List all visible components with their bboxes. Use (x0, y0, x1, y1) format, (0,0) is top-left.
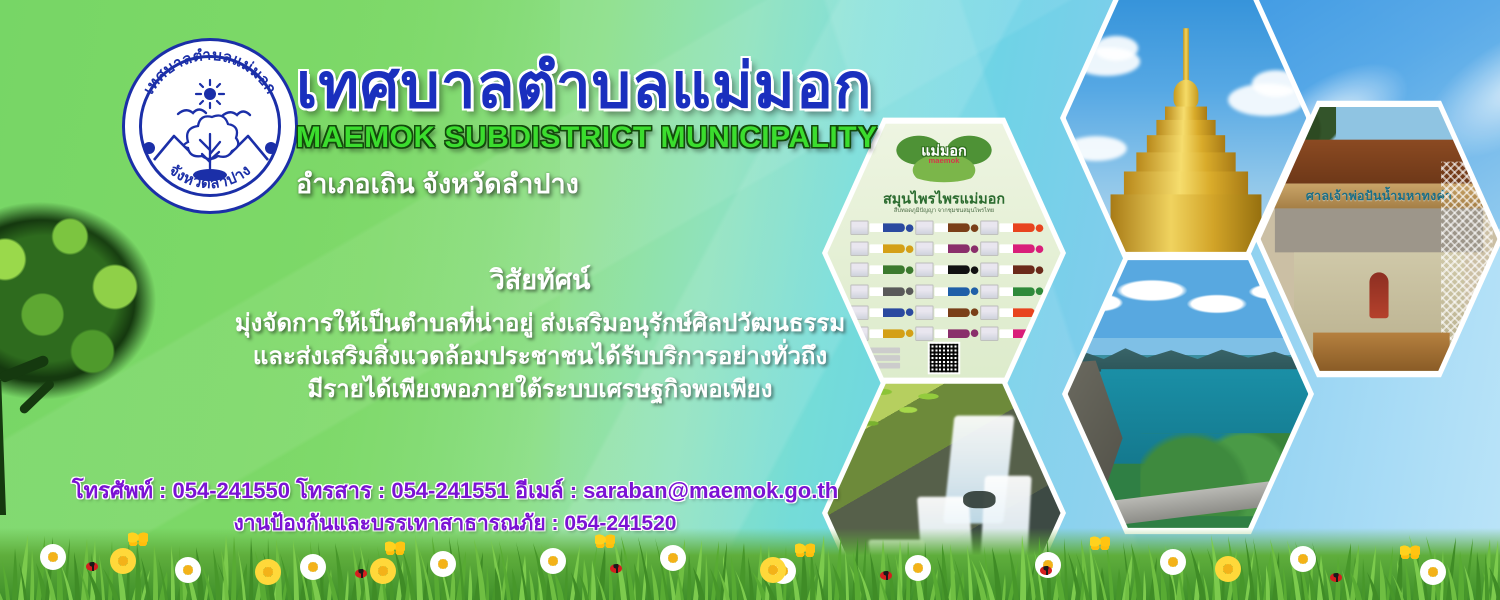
poster-product-item (915, 240, 978, 258)
poster-product-item (915, 282, 978, 300)
product-tag (934, 223, 969, 232)
product-thumbnail (980, 242, 998, 256)
white-daisy-icon (1290, 546, 1316, 572)
stupa-base (1111, 194, 1262, 257)
yellow-daisy-icon (110, 548, 136, 574)
product-thumbnail (915, 221, 933, 235)
ladybug-icon (355, 569, 367, 578)
poster-product-item (850, 240, 913, 258)
ladybug-icon (610, 564, 622, 573)
product-tag (870, 245, 905, 254)
grass-footer (0, 528, 1500, 600)
tree-canopy (0, 195, 180, 425)
white-daisy-icon (1160, 549, 1186, 575)
shrine-statue (1370, 272, 1389, 318)
product-tag (999, 266, 1034, 275)
poster-product-item (915, 303, 978, 321)
product-badge-icon (1036, 287, 1044, 295)
stupa-tier (1136, 152, 1235, 173)
yellow-butterfly-icon (595, 534, 615, 548)
product-badge-icon (906, 330, 914, 338)
yellow-butterfly-icon (1090, 536, 1110, 550)
yellow-butterfly-icon (795, 543, 815, 557)
product-badge-icon (971, 330, 979, 338)
white-daisy-icon (540, 548, 566, 574)
product-tag (999, 223, 1034, 232)
white-daisy-icon (430, 551, 456, 577)
product-badge-icon (1036, 245, 1044, 253)
yellow-butterfly-icon (1400, 545, 1420, 559)
product-thumbnail (850, 221, 868, 235)
seal-artwork: เทศบาลตำบลแม่มอก จังหวัดลำปาง (122, 38, 298, 214)
product-thumbnail (915, 284, 933, 298)
poster-product-item (915, 324, 978, 342)
page-subtitle: อำเภอเถิน จังหวัดลำปาง (296, 162, 936, 205)
product-tag (999, 308, 1034, 317)
ladybug-icon (1330, 573, 1342, 582)
white-daisy-icon (300, 554, 326, 580)
grass-blades (0, 528, 1500, 600)
vision-line: มุ่งจัดการให้เป็นตำบลที่น่าอยู่ ส่งเสริม… (180, 307, 900, 340)
poster-product-item (850, 219, 913, 237)
sun-icon (196, 80, 224, 108)
poster-product-item (915, 261, 978, 279)
product-badge-icon (906, 309, 914, 317)
product-thumbnail (915, 305, 933, 319)
yellow-butterfly-icon (385, 541, 405, 555)
product-thumbnail (980, 326, 998, 340)
product-tag (934, 245, 969, 254)
shrine-altar (1313, 333, 1450, 371)
white-daisy-icon (175, 557, 201, 583)
stupa-tier (1124, 171, 1248, 196)
product-thumbnail (915, 263, 933, 277)
poster-product-item (980, 303, 1043, 321)
page-title-english: MAEMOK SUBDISTRICT MUNICIPALITY (296, 122, 936, 154)
yellow-daisy-icon (370, 558, 396, 584)
product-badge-icon (971, 224, 979, 232)
product-thumbnail (980, 305, 998, 319)
ladybug-icon (86, 562, 98, 571)
product-thumbnail (915, 242, 933, 256)
vision-block: วิสัยทัศน์ มุ่งจัดการให้เป็นตำบลที่น่าอย… (180, 258, 900, 406)
product-badge-icon (971, 287, 979, 295)
product-thumbnail (980, 221, 998, 235)
product-tag (934, 287, 969, 296)
product-thumbnail (980, 263, 998, 277)
vision-line: มีรายได้เพียงพอภายใต้ระบบเศรษฐกิจพอเพียง (180, 373, 900, 406)
waterfall-rock (963, 491, 995, 508)
municipality-banner: แม่มอก maemok สมุนไพรไพรแม่มอก สืบทอดภูม… (0, 0, 1500, 600)
ladybug-icon (880, 571, 892, 580)
white-daisy-icon (660, 545, 686, 571)
product-thumbnail (980, 284, 998, 298)
yellow-daisy-icon (1215, 556, 1241, 582)
product-badge-icon (971, 309, 979, 317)
poster-product-item (980, 219, 1043, 237)
poster-product-item (980, 261, 1043, 279)
product-badge-icon (906, 287, 914, 295)
product-badge-icon (906, 245, 914, 253)
white-daisy-icon (905, 555, 931, 581)
product-badge-icon (1036, 224, 1044, 232)
vision-heading: วิสัยทัศน์ (180, 258, 900, 301)
contact-line-phone-fax-email[interactable]: โทรศัพท์ : 054-241550 โทรสาร : 054-24155… (60, 474, 850, 508)
page-title-thai: เทศบาลตำบลแม่มอก (296, 56, 936, 118)
qr-code-icon (928, 342, 960, 374)
poster-product-item (980, 282, 1043, 300)
white-daisy-icon (40, 544, 66, 570)
product-thumbnail (915, 326, 933, 340)
bird-icon (178, 110, 250, 117)
product-tag (934, 308, 969, 317)
header-titles: เทศบาลตำบลแม่มอก MAEMOK SUBDISTRICT MUNI… (296, 56, 936, 205)
product-thumbnail (850, 242, 868, 256)
poster-product-item (915, 219, 978, 237)
product-badge-icon (1036, 266, 1044, 274)
stupa-bell (1174, 80, 1199, 109)
yellow-daisy-icon (760, 557, 786, 583)
product-tag (934, 266, 969, 275)
product-badge-icon (906, 266, 914, 274)
poster-subtitle: สืบทอดภูมิปัญญา จากชุมชนสมุนไพรไทย (827, 205, 1060, 215)
product-badge-icon (971, 245, 979, 253)
product-badge-icon (906, 224, 914, 232)
yellow-butterfly-icon (128, 532, 148, 546)
product-tag (870, 223, 905, 232)
municipality-seal-logo: เทศบาลตำบลแม่มอก จังหวัดลำปาง (122, 38, 298, 214)
ladybug-icon (1040, 566, 1052, 575)
stupa (1110, 28, 1263, 257)
dam-mountains (1068, 338, 1309, 371)
product-badge-icon (971, 266, 979, 274)
product-tag (999, 245, 1034, 254)
white-daisy-icon (1420, 559, 1446, 585)
poster-product-item (980, 240, 1043, 258)
yellow-daisy-icon (255, 559, 281, 585)
product-tag (999, 287, 1034, 296)
stupa-spire (1183, 28, 1189, 87)
product-tag (934, 329, 969, 338)
vision-line: และส่งเสริมสิ่งแวดล้อมประชาชนได้รับบริกา… (180, 340, 900, 373)
